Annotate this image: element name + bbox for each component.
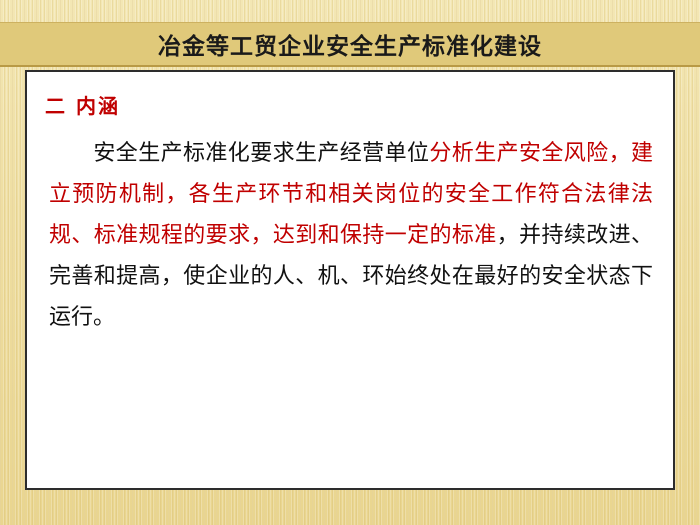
body-paragraph: 安全生产标准化要求生产经营单位分析生产安全风险，建立预防机制，各生产环节和相关岗…: [49, 133, 653, 338]
slide-title: 冶金等工贸企业安全生产标准化建设: [158, 27, 542, 61]
paragraph-run-1: 安全生产标准化要求生产经营单位: [93, 141, 429, 166]
slide-title-bar: 冶金等工贸企业安全生产标准化建设: [0, 22, 700, 67]
content-panel: 二 内涵 安全生产标准化要求生产经营单位分析生产安全风险，建立预防机制，各生产环…: [25, 70, 675, 490]
slide-canvas: 冶金等工贸企业安全生产标准化建设 二 内涵 安全生产标准化要求生产经营单位分析生…: [0, 0, 700, 525]
section-heading: 二 内涵: [45, 90, 673, 119]
